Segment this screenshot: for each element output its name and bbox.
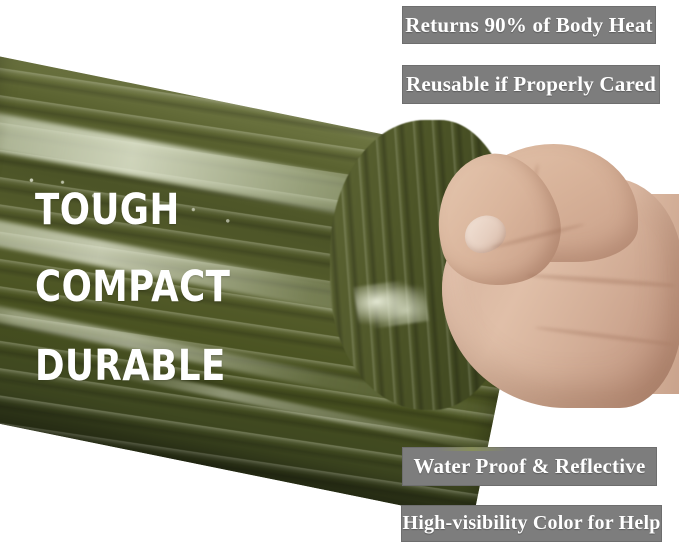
feature-label-reusable: Reusable if Properly Cared (402, 65, 660, 104)
hand-gripping-product (430, 138, 679, 428)
product-feature-image: TOUGH COMPACT DURABLE Returns 90% of Bod… (0, 0, 679, 548)
headline-word-durable: DURABLE (35, 345, 226, 388)
feature-label-returns-body-heat: Returns 90% of Body Heat (402, 6, 656, 44)
headline-word-tough: TOUGH (35, 189, 180, 232)
headline-word-compact: COMPACT (35, 266, 230, 309)
feature-label-water-proof-reflective: Water Proof & Reflective (402, 447, 657, 486)
feature-label-high-visibility: High-visibility Color for Help (401, 505, 662, 542)
